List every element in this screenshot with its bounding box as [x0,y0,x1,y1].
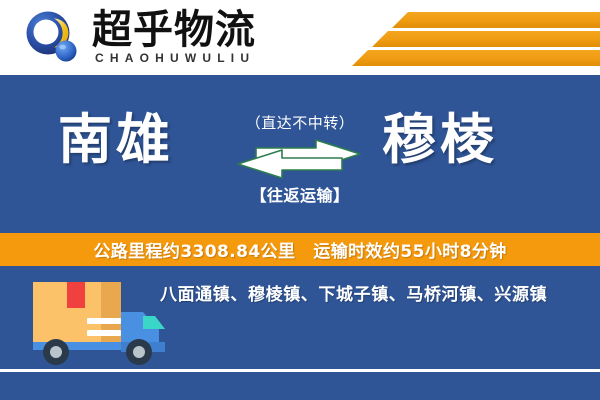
route-info-text: 公路里程约3308.84公里运输时效约55小时8分钟 [93,237,506,262]
destination-city: 穆棱 [382,108,498,172]
direct-service-note: （直达不中转） [218,112,382,133]
double-arrow-roundtrip-icon [220,136,380,180]
route-panel: 南雄 （直达不中转） 【往返运输】 穆棱 [0,76,600,232]
brand-name-cn: 超乎物流 [92,8,256,52]
logistics-route-banner: 超乎物流 CHAOHUWULIU 南雄 （直达不中转） [0,0,600,400]
brand-name-en: CHAOHUWULIU [95,51,255,65]
coverage-panel: 八面通镇、穆棱镇、下城子镇、马桥河镇、兴源镇 [0,266,600,400]
route-middle-group: （直达不中转） 【往返运输】 [218,106,382,216]
circle-q-logo-icon [24,11,80,65]
origin-city: 南雄 [58,108,174,172]
delivery-truck-icon [25,276,173,372]
orange-speed-stripes-icon [330,6,600,68]
route-info-bar: 公路里程约3308.84公里运输时效约55小时8分钟 [0,233,600,266]
road-line-icon [0,369,600,372]
coverage-towns-list: 八面通镇、穆棱镇、下城子镇、马桥河镇、兴源镇 [160,283,590,307]
distance-text: 公路里程约3308.84公里 [93,242,295,262]
roundtrip-note: 【往返运输】 [218,182,382,206]
duration-text: 运输时效约55小时8分钟 [313,242,506,262]
banner-header: 超乎物流 CHAOHUWULIU [0,0,600,75]
